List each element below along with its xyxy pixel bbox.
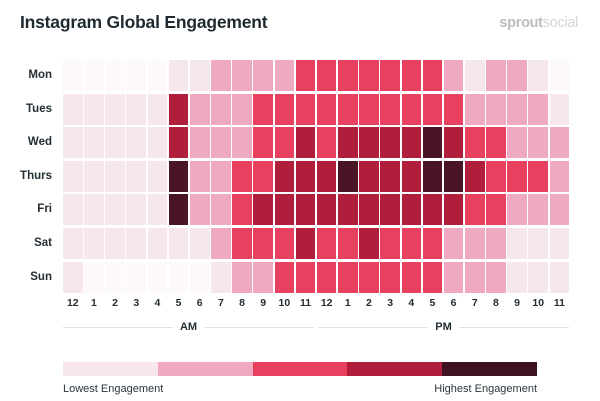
hour-label: 7	[465, 294, 485, 312]
heatmap-cell[interactable]	[232, 94, 252, 125]
legend-swatch	[63, 362, 158, 376]
hour-label: 9	[507, 294, 527, 312]
hour-label: 6	[444, 294, 464, 312]
day-label-wed: Wed	[0, 127, 52, 158]
heatmap-cell[interactable]	[423, 228, 443, 259]
heatmap-cell[interactable]	[296, 161, 316, 192]
heatmap-cell[interactable]	[211, 161, 231, 192]
heatmap-cell[interactable]	[148, 262, 168, 293]
heatmap-cell[interactable]	[338, 161, 358, 192]
heatmap-cell[interactable]	[380, 228, 400, 259]
heatmap-cell[interactable]	[423, 127, 443, 158]
heatmap-cell[interactable]	[148, 60, 168, 91]
heatmap-cell[interactable]	[275, 60, 295, 91]
heatmap-cell[interactable]	[84, 228, 104, 259]
heatmap-cell[interactable]	[253, 127, 273, 158]
heatmap-cell[interactable]	[486, 262, 506, 293]
heatmap-cell[interactable]	[444, 228, 464, 259]
heatmap-cell[interactable]	[126, 60, 146, 91]
heatmap-cell[interactable]	[105, 194, 125, 225]
hour-label: 3	[126, 294, 146, 312]
heatmap-cell[interactable]	[507, 262, 527, 293]
hour-label: 5	[423, 294, 443, 312]
heatmap-cell[interactable]	[169, 228, 189, 259]
hour-label: 9	[253, 294, 273, 312]
heatmap-cell[interactable]	[486, 127, 506, 158]
heatmap-cell[interactable]	[190, 60, 210, 91]
heatmap-cell[interactable]	[169, 94, 189, 125]
heatmap-cell[interactable]	[423, 161, 443, 192]
heatmap-cell[interactable]	[486, 228, 506, 259]
heatmap-cell[interactable]	[84, 194, 104, 225]
heatmap-cell[interactable]	[232, 60, 252, 91]
heatmap-cell[interactable]	[444, 60, 464, 91]
heatmap-cell[interactable]	[63, 194, 83, 225]
heatmap-cell[interactable]	[275, 94, 295, 125]
heatmap-cell[interactable]	[169, 262, 189, 293]
heatmap-cell[interactable]	[126, 161, 146, 192]
heatmap-cell[interactable]	[528, 60, 548, 91]
heatmap-cell[interactable]	[253, 194, 273, 225]
heatmap-cell[interactable]	[169, 161, 189, 192]
heatmap-cell[interactable]	[507, 228, 527, 259]
heatmap-cell[interactable]	[486, 94, 506, 125]
heatmap-cell[interactable]	[507, 60, 527, 91]
heatmap-cell[interactable]	[148, 194, 168, 225]
heatmap-cell[interactable]	[359, 127, 379, 158]
heatmap-cell[interactable]	[253, 161, 273, 192]
heatmap-cell[interactable]	[105, 94, 125, 125]
heatmap-cell[interactable]	[550, 161, 570, 192]
heatmap-row	[63, 228, 569, 259]
heatmap-cell[interactable]	[275, 127, 295, 158]
heatmap-cell[interactable]	[126, 194, 146, 225]
heatmap-cell[interactable]	[380, 161, 400, 192]
day-label-sun: Sun	[0, 262, 52, 293]
heatmap-cell[interactable]	[232, 194, 252, 225]
heatmap-cell[interactable]	[402, 60, 422, 91]
heatmap-cell[interactable]	[190, 228, 210, 259]
hour-label: 7	[211, 294, 231, 312]
heatmap-cell[interactable]	[444, 161, 464, 192]
heatmap-cell[interactable]	[275, 228, 295, 259]
heatmap-cell[interactable]	[380, 194, 400, 225]
heatmap-cell[interactable]	[63, 262, 83, 293]
heatmap-cell[interactable]	[317, 194, 337, 225]
day-label-fri: Fri	[0, 194, 52, 225]
heatmap-cell[interactable]	[465, 60, 485, 91]
hour-label: 11	[550, 294, 570, 312]
heatmap-cell[interactable]	[126, 228, 146, 259]
heatmap-cell[interactable]	[338, 194, 358, 225]
heatmap-cell[interactable]	[444, 194, 464, 225]
hour-label: 10	[528, 294, 548, 312]
heatmap-cell[interactable]	[507, 161, 527, 192]
heatmap-cell[interactable]	[380, 94, 400, 125]
heatmap-cell[interactable]	[402, 94, 422, 125]
heatmap-cell[interactable]	[402, 194, 422, 225]
heatmap-cell[interactable]	[317, 161, 337, 192]
hour-label: 5	[169, 294, 189, 312]
heatmap-cell[interactable]	[444, 127, 464, 158]
heatmap-cell[interactable]	[317, 228, 337, 259]
hour-label: 4	[402, 294, 422, 312]
heatmap-cell[interactable]	[444, 94, 464, 125]
heatmap-cell[interactable]	[338, 94, 358, 125]
legend-swatch	[158, 362, 253, 376]
hour-label: 2	[359, 294, 379, 312]
heatmap-cell[interactable]	[550, 194, 570, 225]
heatmap-cell[interactable]	[550, 228, 570, 259]
heatmap-cell[interactable]	[528, 127, 548, 158]
heatmap-cell[interactable]	[338, 60, 358, 91]
heatmap-cell[interactable]	[402, 127, 422, 158]
hour-label: 3	[380, 294, 400, 312]
pm-rule-right	[459, 327, 569, 328]
heatmap-cell[interactable]	[380, 262, 400, 293]
heatmap-cell[interactable]	[105, 262, 125, 293]
heatmap-cell[interactable]	[275, 194, 295, 225]
heatmap-cell[interactable]	[232, 262, 252, 293]
pm-label: PM	[435, 321, 452, 333]
heatmap-cell[interactable]	[317, 262, 337, 293]
heatmap-row	[63, 262, 569, 293]
day-label-mon: Mon	[0, 60, 52, 91]
heatmap-cell[interactable]	[317, 94, 337, 125]
heatmap-cell[interactable]	[253, 262, 273, 293]
heatmap-cell[interactable]	[550, 60, 570, 91]
pm-rule-left	[318, 327, 428, 328]
heatmap-cell[interactable]	[275, 161, 295, 192]
heatmap-cell[interactable]	[296, 94, 316, 125]
heatmap-cell[interactable]	[359, 161, 379, 192]
am-rule-left	[63, 327, 173, 328]
heatmap-row	[63, 127, 569, 158]
heatmap-cell[interactable]	[296, 194, 316, 225]
heatmap-cell[interactable]	[359, 94, 379, 125]
heatmap-cell[interactable]	[528, 161, 548, 192]
heatmap-grid	[63, 60, 569, 292]
am-divider: AM	[63, 318, 314, 336]
heatmap-cell[interactable]	[105, 60, 125, 91]
heatmap-cell[interactable]	[126, 127, 146, 158]
heatmap-cell[interactable]	[296, 60, 316, 91]
heatmap-cell[interactable]	[317, 60, 337, 91]
heatmap-cell[interactable]	[402, 228, 422, 259]
heatmap-row	[63, 60, 569, 91]
heatmap-cell[interactable]	[486, 60, 506, 91]
legend-low-label: Lowest Engagement	[63, 383, 163, 395]
engagement-heatmap: MonTuesWedThursFriSatSun 121234567891011…	[0, 0, 600, 401]
hour-label: 8	[486, 294, 506, 312]
hour-label: 11	[296, 294, 316, 312]
am-rule-right	[204, 327, 314, 328]
heatmap-cell[interactable]	[126, 94, 146, 125]
heatmap-cell[interactable]	[211, 60, 231, 91]
heatmap-cell[interactable]	[169, 60, 189, 91]
hour-label: 1	[84, 294, 104, 312]
heatmap-cell[interactable]	[63, 161, 83, 192]
heatmap-cell[interactable]	[359, 60, 379, 91]
heatmap-cell[interactable]	[550, 127, 570, 158]
heatmap-cell[interactable]	[63, 60, 83, 91]
hour-label: 8	[232, 294, 252, 312]
day-label-thurs: Thurs	[0, 161, 52, 192]
heatmap-cell[interactable]	[359, 262, 379, 293]
heatmap-cell[interactable]	[211, 228, 231, 259]
heatmap-cell[interactable]	[190, 194, 210, 225]
heatmap-cell[interactable]	[105, 228, 125, 259]
hour-label: 4	[148, 294, 168, 312]
heatmap-cell[interactable]	[148, 228, 168, 259]
legend-high-label: Highest Engagement	[434, 383, 537, 395]
heatmap-cell[interactable]	[211, 94, 231, 125]
heatmap-row	[63, 94, 569, 125]
legend-swatch	[347, 362, 442, 376]
heatmap-cell[interactable]	[275, 262, 295, 293]
hour-label: 6	[190, 294, 210, 312]
heatmap-cell[interactable]	[423, 194, 443, 225]
heatmap-cell[interactable]	[296, 127, 316, 158]
legend-labels: Lowest Engagement Highest Engagement	[63, 383, 537, 395]
heatmap-cell[interactable]	[550, 94, 570, 125]
heatmap-cell[interactable]	[465, 194, 485, 225]
heatmap-cell[interactable]	[465, 228, 485, 259]
heatmap-cell[interactable]	[528, 228, 548, 259]
heatmap-cell[interactable]	[84, 161, 104, 192]
heatmap-cell[interactable]	[423, 94, 443, 125]
heatmap-cell[interactable]	[550, 262, 570, 293]
heatmap-cell[interactable]	[232, 127, 252, 158]
heatmap-cell[interactable]	[232, 161, 252, 192]
heatmap-cell[interactable]	[253, 228, 273, 259]
hour-label: 1	[338, 294, 358, 312]
heatmap-cell[interactable]	[105, 127, 125, 158]
heatmap-cell[interactable]	[338, 262, 358, 293]
heatmap-cell[interactable]	[486, 194, 506, 225]
heatmap-cell[interactable]	[63, 228, 83, 259]
heatmap-cell[interactable]	[211, 194, 231, 225]
heatmap-cell[interactable]	[253, 60, 273, 91]
heatmap-cell[interactable]	[190, 262, 210, 293]
heatmap-cell[interactable]	[465, 262, 485, 293]
heatmap-cell[interactable]	[105, 161, 125, 192]
heatmap-cell[interactable]	[317, 127, 337, 158]
heatmap-cell[interactable]	[169, 127, 189, 158]
heatmap-cell[interactable]	[528, 194, 548, 225]
day-label-sat: Sat	[0, 228, 52, 259]
heatmap-cell[interactable]	[380, 60, 400, 91]
heatmap-cell[interactable]	[423, 60, 443, 91]
heatmap-cell[interactable]	[465, 161, 485, 192]
am-label: AM	[180, 321, 197, 333]
heatmap-cell[interactable]	[84, 127, 104, 158]
heatmap-cell[interactable]	[84, 94, 104, 125]
heatmap-cell[interactable]	[169, 194, 189, 225]
hour-label: 2	[105, 294, 125, 312]
heatmap-cell[interactable]	[528, 262, 548, 293]
heatmap-cell[interactable]	[84, 60, 104, 91]
pm-divider: PM	[318, 318, 569, 336]
heatmap-cell[interactable]	[84, 262, 104, 293]
heatmap-cell[interactable]	[296, 228, 316, 259]
legend-swatch	[442, 362, 537, 376]
day-label-tues: Tues	[0, 94, 52, 125]
heatmap-cell[interactable]	[338, 228, 358, 259]
heatmap-cell[interactable]	[63, 94, 83, 125]
heatmap-cell[interactable]	[190, 161, 210, 192]
heatmap-cell[interactable]	[359, 228, 379, 259]
legend-swatch	[253, 362, 348, 376]
heatmap-cell[interactable]	[359, 194, 379, 225]
hour-axis: 121234567891011121234567891011	[63, 294, 569, 312]
heatmap-cell[interactable]	[486, 161, 506, 192]
heatmap-cell[interactable]	[507, 194, 527, 225]
heatmap-cell[interactable]	[190, 94, 210, 125]
heatmap-cell[interactable]	[148, 161, 168, 192]
hour-label: 10	[275, 294, 295, 312]
heatmap-cell[interactable]	[402, 262, 422, 293]
heatmap-cell[interactable]	[507, 94, 527, 125]
heatmap-cell[interactable]	[63, 127, 83, 158]
heatmap-cell[interactable]	[211, 127, 231, 158]
heatmap-cell[interactable]	[423, 262, 443, 293]
heatmap-row	[63, 161, 569, 192]
heatmap-cell[interactable]	[296, 262, 316, 293]
heatmap-row	[63, 194, 569, 225]
heatmap-cell[interactable]	[148, 127, 168, 158]
heatmap-cell[interactable]	[190, 127, 210, 158]
heatmap-cell[interactable]	[148, 94, 168, 125]
heatmap-cell[interactable]	[444, 262, 464, 293]
heatmap-cell[interactable]	[402, 161, 422, 192]
heatmap-cell[interactable]	[507, 127, 527, 158]
heatmap-cell[interactable]	[211, 262, 231, 293]
heatmap-cell[interactable]	[465, 94, 485, 125]
legend-gradient-bar	[63, 362, 537, 376]
heatmap-cell[interactable]	[465, 127, 485, 158]
hour-label: 12	[317, 294, 337, 312]
hour-label: 12	[63, 294, 83, 312]
heatmap-cell[interactable]	[380, 127, 400, 158]
heatmap-cell[interactable]	[232, 228, 252, 259]
heatmap-cell[interactable]	[126, 262, 146, 293]
heatmap-cell[interactable]	[338, 127, 358, 158]
heatmap-cell[interactable]	[528, 94, 548, 125]
heatmap-cell[interactable]	[253, 94, 273, 125]
